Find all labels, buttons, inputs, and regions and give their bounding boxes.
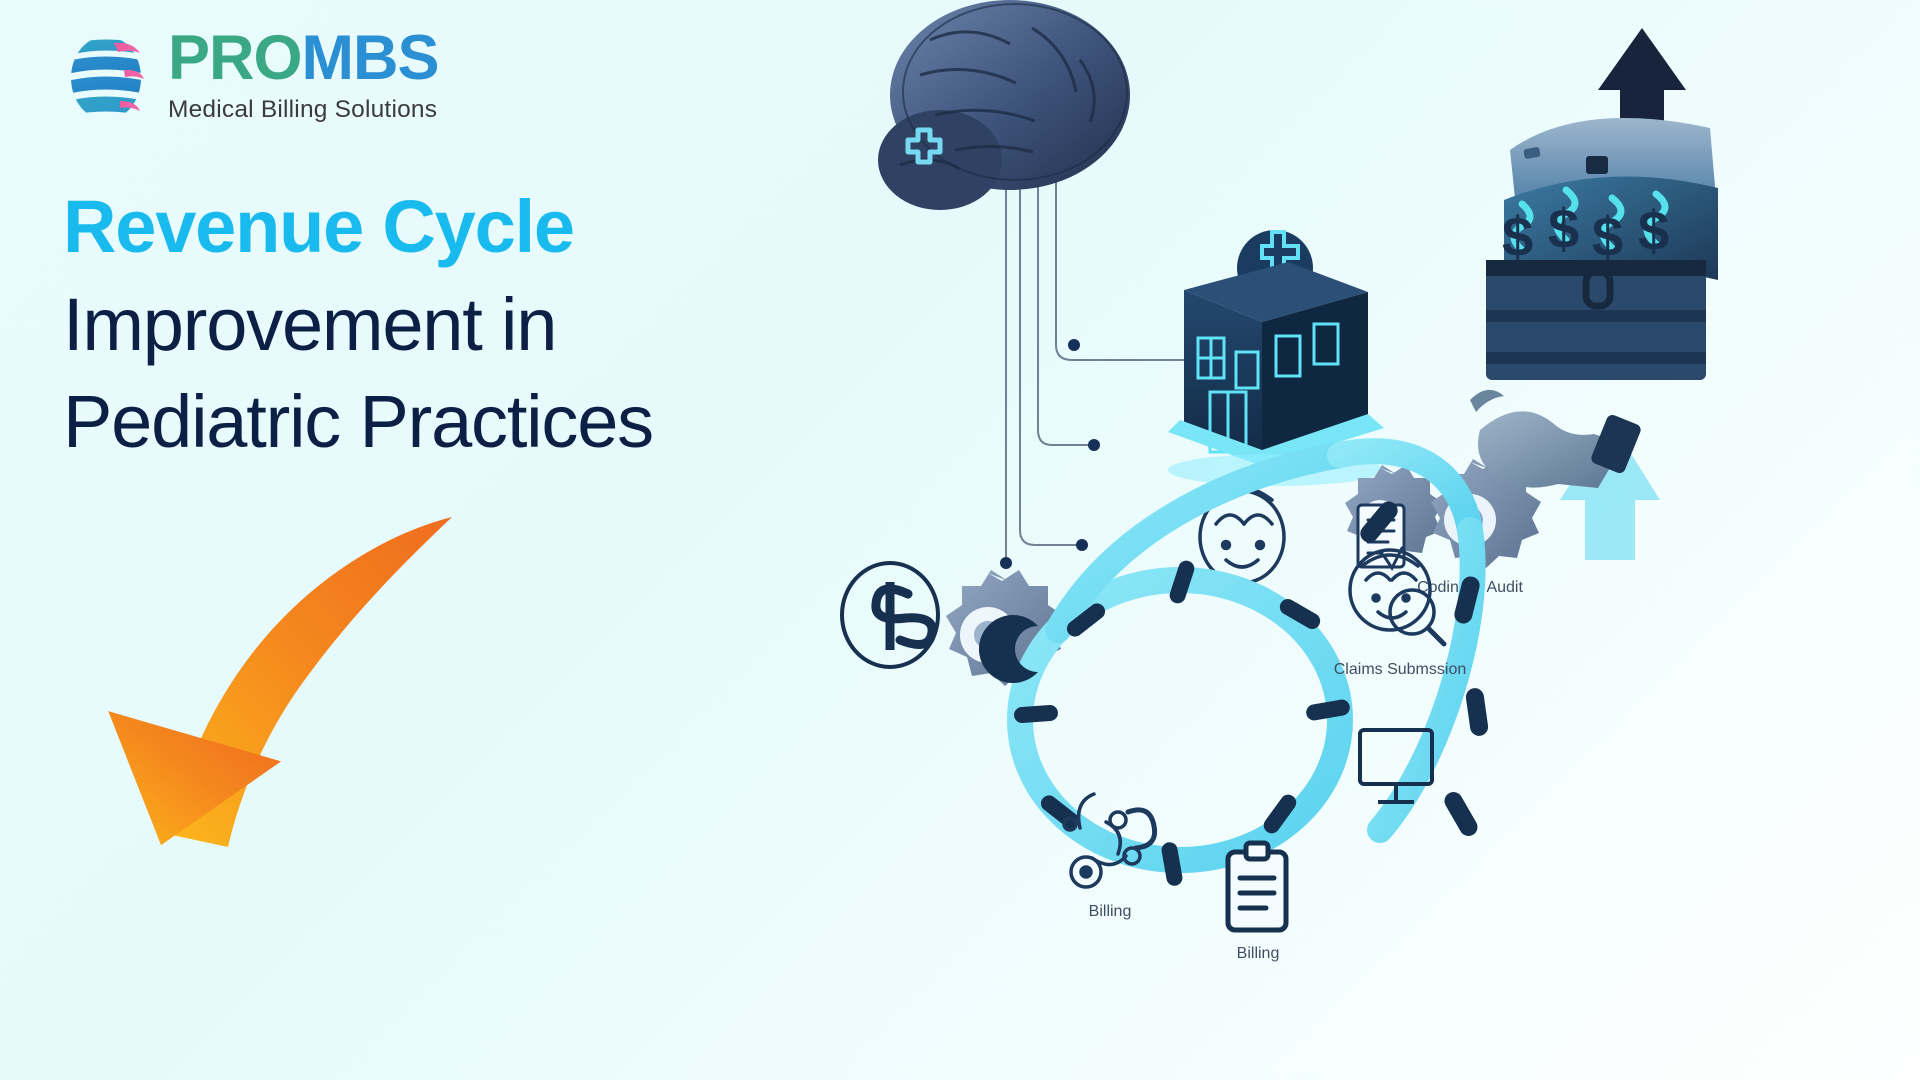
brand-wordmark: PROMBS <box>168 27 439 90</box>
dollar-coin-icon <box>842 563 938 667</box>
wordmark-mbs: MBS <box>302 23 439 93</box>
revenue-cycle-illustration: Coding & Audit $ $ $ <box>780 0 1920 1080</box>
svg-text:$: $ <box>1592 205 1623 268</box>
brand-tagline: Medical Billing Solutions <box>168 96 439 124</box>
svg-text:$: $ <box>1638 199 1669 262</box>
brain-icon <box>878 0 1130 210</box>
clipboard-icon <box>1228 843 1286 930</box>
headline-line-3: Pediatric Practices <box>63 373 823 471</box>
globe-icon <box>62 26 150 124</box>
headline-line-1: Revenue Cycle <box>63 178 823 276</box>
label-claims-submission: Claims Submssion <box>1334 661 1466 678</box>
label-billing-left: Billing <box>1089 903 1132 920</box>
orange-curved-arrow <box>80 495 500 895</box>
brand-logo[interactable]: PROMBS Medical Billing Solutions <box>62 26 439 124</box>
label-billing-right: Billing <box>1237 945 1280 962</box>
wordmark-pro: PRO <box>168 23 302 93</box>
treasure-chest-icon: $ $ $ $ <box>1486 118 1718 380</box>
svg-text:$: $ <box>1548 197 1579 260</box>
page-title: Revenue Cycle Improvement in Pediatric P… <box>63 178 823 471</box>
headline-line-2: Improvement in <box>63 276 823 374</box>
svg-text:$: $ <box>1502 205 1533 268</box>
